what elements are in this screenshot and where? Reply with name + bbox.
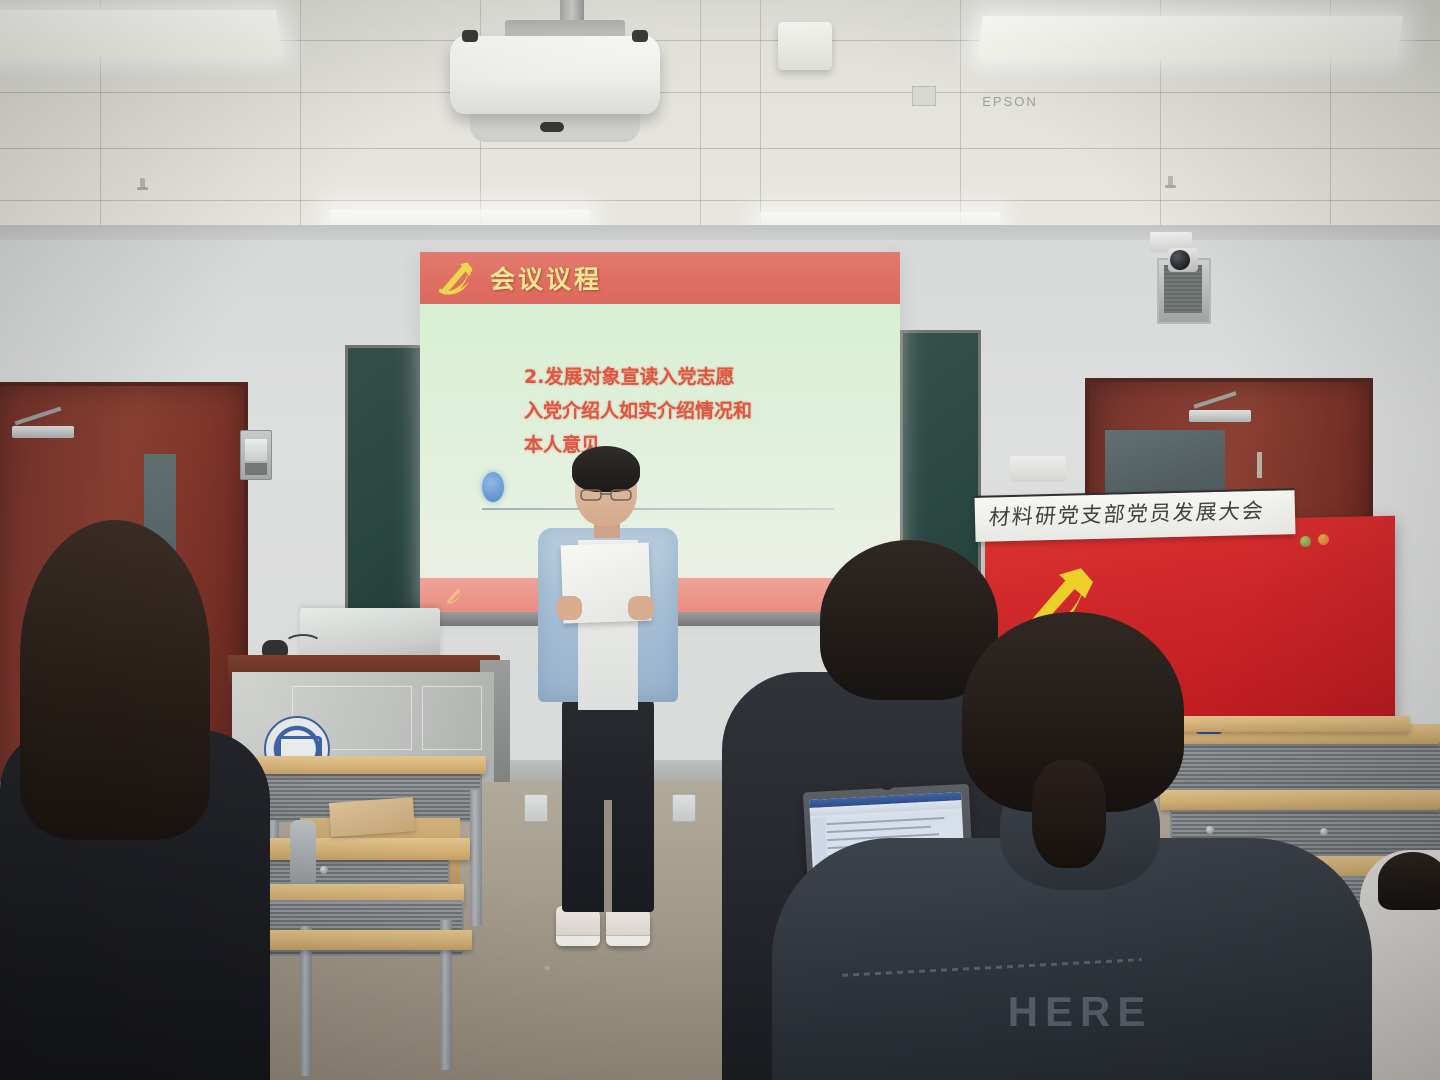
access-control-keypad[interactable] bbox=[240, 430, 272, 480]
door-closer bbox=[1189, 410, 1251, 422]
slide-divider bbox=[482, 508, 834, 510]
keypad-buttons[interactable] bbox=[245, 439, 267, 461]
presenter-hair bbox=[572, 446, 640, 492]
sprinkler-head bbox=[1168, 176, 1173, 188]
wall-socket[interactable] bbox=[524, 794, 548, 822]
hoodie-graphic-text: HERE bbox=[950, 988, 1210, 1036]
slide-header-banner: 会议议程 bbox=[420, 252, 900, 304]
glasses-icon bbox=[580, 488, 632, 500]
sprinkler-head bbox=[140, 178, 145, 190]
attendee-front-left-hair bbox=[20, 520, 210, 840]
door-closer bbox=[12, 426, 74, 438]
ceiling-light-panel bbox=[330, 210, 590, 226]
ceiling-light-panel bbox=[760, 212, 1000, 226]
banner-text: 材料研党支部党员发展大会 bbox=[988, 494, 1291, 531]
podium-cable bbox=[284, 634, 322, 654]
projector-label bbox=[912, 86, 936, 106]
door-hinge bbox=[1257, 452, 1262, 478]
camera-lens-icon bbox=[1170, 250, 1190, 270]
seat-armrest bbox=[290, 820, 316, 886]
desk-top bbox=[236, 756, 486, 774]
speaker-grill bbox=[1164, 265, 1202, 313]
slide-title: 会议议程 bbox=[490, 260, 602, 296]
desk-back-panel bbox=[1150, 740, 1440, 790]
wall-socket[interactable] bbox=[672, 794, 696, 822]
classroom-photo: EPSON 2.发展对象宣读入党志愿 入党介绍人如实介绍情况和 本人意见 bbox=[0, 0, 1440, 1080]
ceiling-light-panel bbox=[977, 16, 1403, 58]
presenter-hand-left bbox=[556, 596, 582, 620]
desk-top bbox=[1160, 716, 1410, 732]
slide-bullet-icon bbox=[482, 472, 504, 502]
presenter-shoe-left bbox=[556, 906, 600, 946]
handwritten-banner: 材料研党支部党员发展大会 bbox=[974, 488, 1295, 542]
ceiling: EPSON bbox=[0, 0, 1440, 250]
projector-lens bbox=[540, 122, 564, 132]
door-closer-arm bbox=[1193, 391, 1236, 408]
desk-fastener bbox=[1206, 826, 1214, 834]
laptop-webcam-icon bbox=[880, 780, 894, 790]
slide-text: 2.发展对象宣读入党志愿 入党介绍人如实介绍情况和 本人意见 bbox=[524, 360, 824, 462]
desk-top bbox=[1160, 790, 1440, 810]
desk-fastener bbox=[320, 866, 328, 874]
presenter-hand-right bbox=[628, 596, 654, 620]
desk-paper-folder bbox=[329, 797, 415, 837]
footer-emblem-icon bbox=[444, 584, 466, 606]
wall-equipment-box bbox=[1010, 456, 1066, 482]
door-closer-arm bbox=[15, 407, 62, 426]
smoke-detector bbox=[778, 22, 832, 70]
banner-magnet-orange bbox=[1318, 534, 1329, 545]
attendee-foreground-ponytail bbox=[1032, 760, 1106, 868]
desk-top bbox=[246, 930, 472, 950]
desk-fastener bbox=[1320, 828, 1328, 836]
presenter-leg-gap bbox=[604, 800, 612, 912]
presenter-shoe-right bbox=[606, 906, 650, 946]
projector-brand-text: EPSON bbox=[965, 94, 1055, 109]
chalkboard-left bbox=[345, 345, 426, 629]
keypad-display bbox=[245, 463, 267, 475]
ceiling-light-panel bbox=[0, 10, 284, 56]
desk-leg bbox=[470, 790, 482, 926]
podium-monitor-cover bbox=[300, 608, 440, 660]
ceiling-projector: EPSON bbox=[450, 36, 660, 114]
attendee-right-hair bbox=[1378, 852, 1440, 910]
hammer-and-sickle-icon bbox=[436, 259, 478, 297]
banner-magnet-green bbox=[1300, 536, 1311, 547]
